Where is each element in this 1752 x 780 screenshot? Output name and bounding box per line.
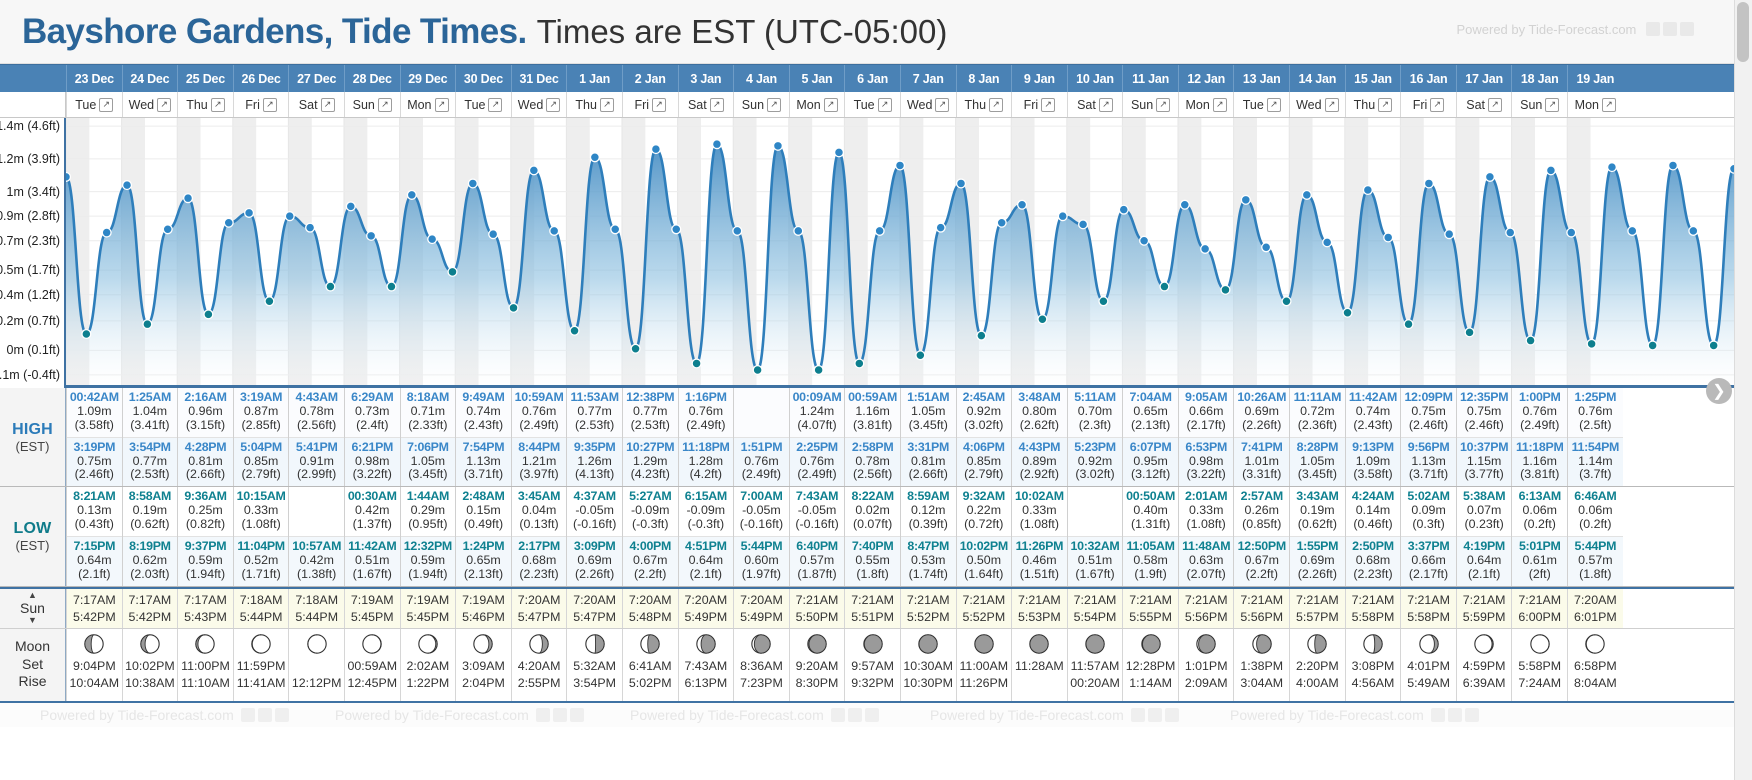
low-tide-point [1160,282,1169,291]
tide-time: 6:21PM [345,441,400,455]
tide-time: 2:17PM [512,540,567,554]
tide-entry: 10:02PM0.50m(1.64ft) [957,536,1012,586]
moonrise-time: 3:04AM [1240,675,1283,692]
tide-entry: 8:18AM0.71m(2.33ft) [401,388,456,437]
low-tide-point [1465,328,1474,337]
moonrise-time: 1:22PM [407,675,450,692]
tide-height-feet: (2.49ft) [1512,419,1567,433]
sunset-time: 5:50PM [796,610,839,624]
tide-time: 1:51AM [901,391,956,405]
tide-time: 11:18PM [1512,441,1567,455]
sunrise-time: 7:19AM [407,593,450,607]
expand-icon[interactable]: ↗ [488,98,502,112]
low-tide-cell: 8:22AM0.02m(0.07ft)7:40PM0.55m(1.8ft) [844,487,900,585]
low-tide-cell: 10:15AM0.33m(1.08ft)11:04PM0.52m(1.71ft) [233,487,289,585]
sunrise-time: 7:21AM [796,593,839,607]
expand-icon[interactable]: ↗ [1267,98,1281,112]
tide-height-feet: (0.39ft) [901,518,956,532]
moon-phase-icon [1584,633,1606,655]
weekday-header-cell[interactable]: Fri↗ [1011,92,1067,117]
tide-time: 4:24AM [1346,490,1401,504]
weekday-header-cell[interactable]: Fri↗ [1400,92,1456,117]
weekday-header-cell[interactable]: Mon↗ [400,92,456,117]
tide-height-metres: -0.05m [734,504,789,518]
tide-height-metres: 0.98m [345,455,400,469]
moon-phase-icon [139,633,161,655]
tide-entry: 7:15PM0.64m(2.1ft) [67,536,122,586]
expand-icon[interactable]: ↗ [1545,98,1559,112]
tide-height-feet: (2.1ft) [679,568,734,582]
high-tide-cell: 9:49AM0.74m(2.43ft)7:54PM1.13m(3.71ft) [455,388,511,486]
tide-time: 1:00PM [1512,391,1567,405]
tide-entry: 1:51AM1.05m(3.45ft) [901,388,956,437]
tide-height-feet: (0.62ft) [1290,518,1345,532]
moon-phase-icon [1306,633,1328,655]
y-axis-tick-label: 0.4m (1.2ft) [0,288,60,302]
tide-height-feet: (0.85ft) [1234,518,1289,532]
tide-height-metres: 0.59m [178,554,233,568]
expand-icon[interactable]: ↗ [652,98,666,112]
tide-height-metres: 0.66m [1401,554,1456,568]
date-header-cell[interactable]: 26 Dec [233,65,289,92]
weekday-header-cell[interactable]: Mon↗ [789,92,845,117]
tide-height-feet: (2.46ft) [1457,419,1512,433]
expand-icon[interactable]: ↗ [378,98,392,112]
date-header-cell[interactable]: 28 Dec [344,65,400,92]
moon-cell: 3:09AM2:04PM [455,629,511,701]
tide-height-metres: 0.04m [512,504,567,518]
moon-phase-icon [1028,633,1050,655]
tide-height-feet: (3.58ft) [67,419,122,433]
low-tide-point [1221,285,1230,294]
tide-entry: 8:59AM0.12m(0.39ft) [901,487,956,536]
weekday-header-cell[interactable]: Thu↗ [956,92,1012,117]
tide-height-feet: (3.58ft) [1346,468,1401,482]
tide-time: 4:37AM [567,490,622,504]
moonset-time: 11:00PM [181,658,230,675]
expand-icon[interactable]: ↗ [1325,98,1339,112]
weekday-header-cell[interactable]: Tue↗ [455,92,511,117]
expand-icon[interactable]: ↗ [878,98,892,112]
tide-entry: 11:04PM0.52m(1.71ft) [234,536,289,586]
tide-height-metres: 0.25m [178,504,233,518]
tide-height-metres: 0.87m [234,405,289,419]
date-header-cell[interactable]: 15 Jan [1345,65,1401,92]
expand-icon[interactable]: ↗ [935,98,949,112]
expand-icon[interactable]: ↗ [824,98,838,112]
moonset-label-text: Set [22,656,43,674]
sunrise-time: 7:20AM [518,593,561,607]
date-header-cell[interactable]: 4 Jan [733,65,789,92]
high-tide-cell: 12:35PM0.75m(2.46ft)10:37PM1.15m(3.77ft) [1456,388,1512,486]
expand-icon[interactable]: ↗ [546,98,560,112]
tide-time: 4:19PM [1457,540,1512,554]
date-header-cell[interactable]: 16 Jan [1400,65,1456,92]
moonrise-time: 9:32PM [851,675,894,692]
expand-icon[interactable]: ↗ [435,98,449,112]
tide-time: 7:15PM [67,540,122,554]
y-axis-tick-label: 0.5m (1.7ft) [0,263,60,277]
date-header-cell[interactable]: 17 Jan [1456,65,1512,92]
tide-height-metres: 1.16m [1512,455,1567,469]
date-header-cell[interactable]: 18 Jan [1511,65,1567,92]
date-header-cell[interactable]: 1 Jan [566,65,622,92]
high-tide-timezone: (EST) [16,439,50,454]
tide-entry: 10:02AM0.33m(1.08ft) [1012,487,1067,536]
sunrise-time: 7:18AM [240,593,283,607]
moonset-time: 6:58PM [1574,658,1617,675]
tide-time: 9:49AM [456,391,511,405]
moonset-time: 9:04PM [73,658,116,675]
footer-watermark-text: Powered by Tide-Forecast.com [630,707,879,723]
low-tide-cell: 3:45AM0.04m(0.13ft)2:17PM0.68m(2.23ft) [511,487,567,585]
high-tide-point [1180,200,1189,209]
sunset-time: 5:52PM [907,610,950,624]
tide-height-metres: 0.19m [1290,504,1345,518]
tide-height-feet: (-0.16ft) [734,518,789,532]
weekday-label: Mon [1575,98,1599,112]
expand-icon[interactable]: ↗ [989,98,1003,112]
tide-height-feet: (2.46ft) [1401,419,1456,433]
weekday-header-cell[interactable]: Mon↗ [1178,92,1234,117]
expand-icon[interactable]: ↗ [1156,98,1170,112]
tide-entry: 7:54PM1.13m(3.71ft) [456,437,511,487]
tide-height-feet: (3.45ft) [401,468,456,482]
date-header-cell[interactable]: 30 Dec [455,65,511,92]
weekday-header-cell[interactable]: Thu↗ [566,92,622,117]
weekday-header-cell[interactable]: Sun↗ [733,92,789,117]
moonset-time: 11:00AM [959,658,1008,675]
weekday-header-cell[interactable]: Sat↗ [1456,92,1512,117]
moonset-time: 2:02AM [407,658,450,675]
tide-height-metres: 1.26m [567,455,622,469]
tide-entry: 10:26AM0.69m(2.26ft) [1234,388,1289,437]
weekday-label: Fri [1413,98,1428,112]
moonset-time: 8:36AM [740,658,783,675]
date-header-cell[interactable]: 14 Jan [1289,65,1345,92]
low-tide-point [1526,336,1535,345]
high-tide-point [529,166,538,175]
tide-height-feet: (-0.16ft) [790,518,845,532]
low-tide-cells: 8:21AM0.13m(0.43ft)7:15PM0.64m(2.1ft)8:5… [66,487,1752,585]
tide-height-feet: (1.64ft) [957,568,1012,582]
tide-height-feet: (4.13ft) [567,468,622,482]
powered-by-watermark-top: Powered by Tide-Forecast.com [1456,22,1694,37]
footer-watermark-text: Powered by Tide-Forecast.com [930,707,1179,723]
tide-time: 7:06PM [401,441,456,455]
expand-icon[interactable]: ↗ [767,98,781,112]
high-tide-point [1262,243,1271,252]
expand-icon[interactable]: ↗ [1430,98,1444,112]
weekday-label: Sat [1077,98,1096,112]
weekday-label: Sat [688,98,707,112]
tide-height-metres: 1.28m [679,455,734,469]
expand-icon[interactable]: ↗ [600,98,614,112]
sunset-time: 5:43PM [184,610,227,624]
tide-time: 10:59AM [512,391,567,405]
weekday-header-cell[interactable]: Sun↗ [1511,92,1567,117]
sun-row: ▲ Sun ▼ 7:17AM5:42PM7:17AM5:42PM7:17AM5:… [0,587,1752,629]
date-header-cell[interactable]: 25 Dec [177,65,233,92]
moonrise-time: 4:00AM [1296,675,1339,692]
tide-height-feet: (2.66ft) [178,468,233,482]
high-tide-point [875,227,884,236]
moon-cell: 11:57AM00:20AM [1067,629,1123,701]
tide-height-metres: 0.55m [845,554,900,568]
weekday-header-cell[interactable]: Tue↗ [1233,92,1289,117]
tide-height-feet: (2.23ft) [1346,568,1401,582]
tide-height-metres: 0.91m [289,455,344,469]
tide-entry: 10:57AM0.42m(1.38ft) [289,536,344,586]
moonset-time: 5:32AM [573,658,616,675]
expand-icon[interactable]: ↗ [1378,98,1392,112]
high-tide-point [468,179,477,188]
weekday-label: Wed [1296,98,1321,112]
scroll-next-button[interactable]: ❯ [1706,378,1732,404]
tide-height-metres: -0.09m [623,504,678,518]
expand-icon[interactable]: ↗ [1041,98,1055,112]
tide-height-metres: 1.01m [1234,455,1289,469]
tide-time: 2:57AM [1234,490,1289,504]
weekday-header-cell[interactable]: Tue↗ [66,92,122,117]
low-tide-cell: 00:30AM0.42m(1.37ft)11:42AM0.51m(1.67ft) [344,487,400,585]
high-tide-point [835,148,844,157]
tide-height-metres: 0.72m [1290,405,1345,419]
weekday-header-cell[interactable]: Sat↗ [678,92,734,117]
watermark-icon-1 [1646,22,1660,36]
tide-height-feet: (2.07ft) [1179,568,1234,582]
weekday-header-cell[interactable]: Fri↗ [233,92,289,117]
date-header-cell[interactable]: 13 Jan [1233,65,1289,92]
tide-height-metres: 0.78m [845,455,900,469]
sunset-time: 5:47PM [573,610,616,624]
tide-entry: 7:04AM0.65m(2.13ft) [1123,388,1178,437]
sunrise-time: 7:21AM [1185,593,1228,607]
expand-icon[interactable]: ↗ [211,98,225,112]
tide-graph-row: 1.4m (4.6ft)1.2m (3.9ft)1m (3.4ft)0.9m (… [0,118,1752,388]
low-tide-point [1587,339,1596,348]
tide-entry: 10:32AM0.51m(1.67ft) [1068,536,1123,586]
low-tide-point [753,366,762,375]
y-axis-tick-label: 0.9m (2.8ft) [0,209,60,223]
tide-time: 2:48AM [456,490,511,504]
weekday-header-cell[interactable]: Thu↗ [1345,92,1401,117]
tide-height-feet: (2.46ft) [67,468,122,482]
date-header-corner [0,65,66,92]
sunrise-time: 7:20AM [1574,593,1617,607]
date-header-cell[interactable]: 7 Jan [900,65,956,92]
tide-entry: 11:18PM1.16m(3.81ft) [1512,437,1567,487]
high-tide-cell: 1:25AM1.04m(3.41ft)3:54PM0.77m(2.53ft) [122,388,178,486]
tide-entry: 2:48AM0.15m(0.49ft) [456,487,511,536]
tide-entry: 12:35PM0.75m(2.46ft) [1457,388,1512,437]
moon-phase-icon [584,633,606,655]
high-tide-point [652,145,661,154]
low-tide-point [1404,320,1413,329]
date-header-cell[interactable]: 3 Jan [678,65,734,92]
sunset-time: 5:55PM [1129,610,1172,624]
expand-icon[interactable]: ↗ [263,98,277,112]
weekday-header-cell[interactable]: Sat↗ [1067,92,1123,117]
tide-entry: 6:21PM0.98m(3.22ft) [345,437,400,487]
tide-entry: 3:31PM0.81m(2.66ft) [901,437,956,487]
tide-height-metres: 0.69m [567,554,622,568]
date-header-cell[interactable]: 29 Dec [400,65,456,92]
tide-height-metres: 0.76m [512,405,567,419]
low-tide-point [204,310,213,319]
moon-phase-icon [750,633,772,655]
moonrise-time: 11:41AM [237,675,286,692]
high-tide-point [550,227,559,236]
high-tide-cell: 10:59AM0.76m(2.49ft)8:44PM1.21m(3.97ft) [511,388,567,486]
high-tide-cell: 00:42AM1.09m(3.58ft)3:19PM0.75m(2.46ft) [66,388,122,486]
date-header-cell[interactable]: 23 Dec [66,65,122,92]
date-header-cell[interactable]: 12 Jan [1178,65,1234,92]
date-header-cell[interactable]: 2 Jan [622,65,678,92]
weekday-header-cell[interactable]: Wed↗ [511,92,567,117]
tide-entry: 5:02AM0.09m(0.3ft) [1401,487,1456,536]
low-tide-cell: 9:32AM0.22m(0.72ft)10:02PM0.50m(1.64ft) [956,487,1012,585]
tide-height-feet: (3.02ft) [1068,468,1123,482]
sunset-time: 5:51PM [851,610,894,624]
tide-time: 11:04PM [234,540,289,554]
date-header-cell[interactable]: 8 Jan [956,65,1012,92]
date-header-row: 23 Dec24 Dec25 Dec26 Dec27 Dec28 Dec29 D… [0,64,1752,92]
tide-time: 11:48AM [1179,540,1234,554]
tide-height-feet: (0.43ft) [67,518,122,532]
weekday-header-cell[interactable]: Wed↗ [900,92,956,117]
date-header-cell[interactable]: 11 Jan [1122,65,1178,92]
sunrise-up-icon: ▲ [28,591,37,600]
tide-entry: 3:45AM0.04m(0.13ft) [512,487,567,536]
tide-time: 8:22AM [845,490,900,504]
expand-icon[interactable]: ↗ [1602,98,1616,112]
tide-time: 7:04AM [1123,391,1178,405]
weekday-header-cell[interactable]: Sat↗ [288,92,344,117]
sunset-time: 5:42PM [129,610,172,624]
tide-time: 5:02AM [1401,490,1456,504]
low-tide-cell: 7:43AM-0.05m(-0.16ft)6:40PM0.57m(1.87ft) [789,487,845,585]
high-tide-point [672,225,681,234]
vertical-scrollbar[interactable] [1734,0,1752,780]
watermark-icons [1646,22,1694,36]
date-header-cell[interactable]: 9 Jan [1011,65,1067,92]
weekday-header-cell[interactable]: Sun↗ [1122,92,1178,117]
low-tide-point [631,344,640,353]
date-header-cell[interactable]: 24 Dec [122,65,178,92]
tide-height-feet: (2.53ft) [123,468,178,482]
sunset-time: 5:45PM [351,610,394,624]
weekday-label: Wed [129,98,154,112]
low-tide-point [977,331,986,340]
tide-time: 2:01AM [1179,490,1234,504]
weekday-header-cell[interactable]: Wed↗ [122,92,178,117]
weekday-label: Sun [353,98,375,112]
sunrise-time: 7:21AM [962,593,1005,607]
sun-cell: 7:21AM5:54PM [1067,589,1123,628]
date-header-cell[interactable]: 10 Jan [1067,65,1123,92]
tide-height-metres: 0.42m [289,554,344,568]
tide-height-feet: (2.56ft) [845,468,900,482]
date-header-cell[interactable]: 27 Dec [288,65,344,92]
moon-phase-icon [472,633,494,655]
moon-cell: 1:01PM2:09AM [1178,629,1234,701]
tide-height-feet: (2.62ft) [1012,419,1067,433]
tide-entry: 10:27PM1.29m(4.23ft) [623,437,678,487]
expand-icon[interactable]: ↗ [1488,98,1502,112]
tide-entry: 11:53AM0.77m(2.53ft) [567,388,622,437]
date-header-cell[interactable]: 6 Jan [844,65,900,92]
low-tide-cell: 6:13AM0.06m(0.2ft)5:01PM0.61m(2ft) [1511,487,1567,585]
sunrise-time: 7:20AM [573,593,616,607]
weekday-header-cell[interactable]: Sun↗ [344,92,400,117]
weekday-header-cell[interactable]: Tue↗ [844,92,900,117]
tide-height-metres: 0.64m [1457,554,1512,568]
expand-icon[interactable]: ↗ [321,98,335,112]
high-tide-point [163,225,172,234]
expand-icon[interactable]: ↗ [99,98,113,112]
tide-time: 10:32AM [1068,540,1123,554]
tide-height-metres: 0.63m [1179,554,1234,568]
sunrise-time: 7:21AM [1296,593,1339,607]
sunrise-time: 7:17AM [184,593,227,607]
date-header-cell[interactable]: 5 Jan [789,65,845,92]
weekday-label: Fri [1024,98,1039,112]
tide-time: 12:32PM [401,540,456,554]
tide-height-feet: (2.53ft) [567,419,622,433]
low-tide-cell: 10:57AM0.42m(1.38ft) [288,487,344,585]
tide-height-feet: (1.9ft) [1123,568,1178,582]
y-axis-tick-label: 0.7m (2.3ft) [0,234,60,248]
sun-cell: 7:21AM5:52PM [900,589,956,628]
tide-height-feet: (3.41ft) [123,419,178,433]
expand-icon[interactable]: ↗ [1213,98,1227,112]
weekday-label: Mon [796,98,820,112]
weekday-header-cell[interactable]: Fri↗ [622,92,678,117]
expand-icon[interactable]: ↗ [157,98,171,112]
moon-cell: 4:01PM5:49AM [1400,629,1456,701]
moon-cell: 9:57AM9:32PM [844,629,900,701]
sunset-time: 5:53PM [1018,610,1061,624]
date-header-cell[interactable]: 31 Dec [511,65,567,92]
date-header-cell[interactable]: 19 Jan [1567,65,1623,92]
high-tide-cell: 3:19AM0.87m(2.85ft)5:04PM0.85m(2.79ft) [233,388,289,486]
moon-cell: 5:58PM7:24AM [1511,629,1567,701]
sun-cell: 7:21AM5:57PM [1289,589,1345,628]
tide-time: 2:16AM [178,391,233,405]
weekday-header-cell[interactable]: Thu↗ [177,92,233,117]
low-tide-cell: 5:38AM0.07m(0.23ft)4:19PM0.64m(2.1ft) [1456,487,1512,585]
tide-height-metres: 0.12m [901,504,956,518]
weekday-header-cell[interactable]: Wed↗ [1289,92,1345,117]
low-tide-point [1343,308,1352,317]
high-tide-point [733,227,742,236]
tide-height-feet: (2.36ft) [1290,419,1345,433]
expand-icon[interactable]: ↗ [710,98,724,112]
tide-height-feet: (2.2ft) [623,568,678,582]
moon-cell: 1:38PM3:04AM [1233,629,1289,701]
moonset-time: 10:30AM [903,658,953,675]
tide-height-metres: 0.81m [178,455,233,469]
y-axis-tick-label: 1.2m (3.9ft) [0,152,60,166]
tide-height-metres: 0.77m [623,405,678,419]
moonset-time: 9:20AM [796,658,839,675]
high-tide-point [590,153,599,162]
tide-height-metres: 0.58m [1123,554,1178,568]
scrollbar-thumb[interactable] [1737,2,1749,62]
weekday-header-cell[interactable]: Mon↗ [1567,92,1623,117]
expand-icon[interactable]: ↗ [1099,98,1113,112]
